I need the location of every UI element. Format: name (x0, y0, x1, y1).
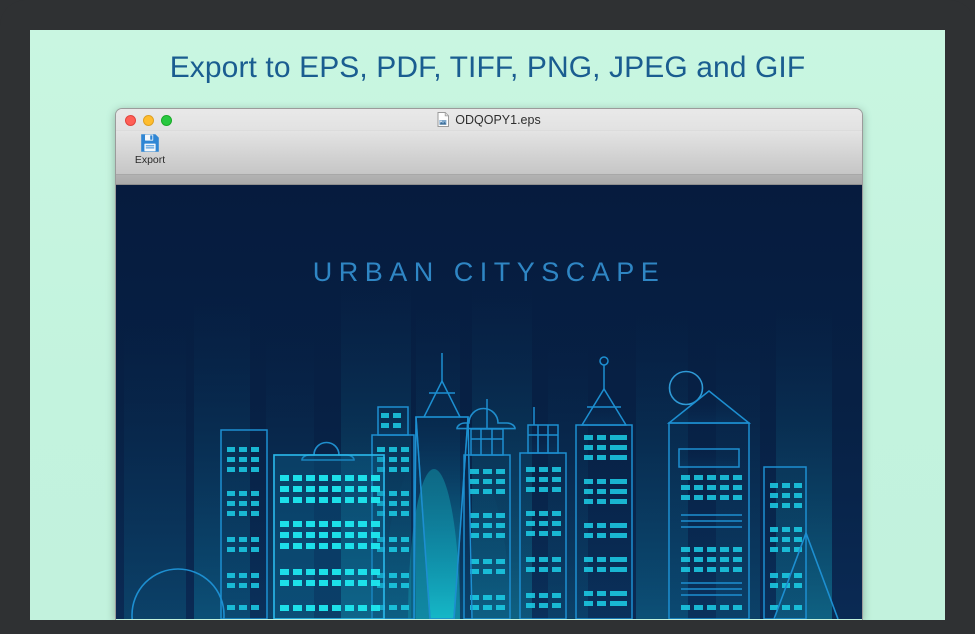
tablet-device-frame: Export to EPS, PDF, TIFF, PNG, JPEG and … (0, 0, 975, 634)
window-titlebar: ODQOPY1.eps (116, 109, 862, 131)
device-screen: Export to EPS, PDF, TIFF, PNG, JPEG and … (30, 30, 945, 620)
application-window: ODQOPY1.eps (115, 108, 863, 620)
document-canvas[interactable]: URBAN CITYSCAPE (116, 185, 862, 619)
export-button[interactable]: Export (122, 132, 178, 173)
toolbar-divider (116, 175, 862, 185)
floppy-disk-save-icon (139, 132, 161, 154)
eps-document-icon (437, 112, 449, 127)
window-toolbar: Export (116, 131, 862, 175)
export-button-label: Export (135, 155, 165, 166)
cityscape-illustration (116, 185, 862, 619)
window-title-text: ODQOPY1.eps (455, 113, 540, 127)
page-title: Export to EPS, PDF, TIFF, PNG, JPEG and … (30, 51, 945, 85)
window-title-group: ODQOPY1.eps (116, 112, 862, 127)
